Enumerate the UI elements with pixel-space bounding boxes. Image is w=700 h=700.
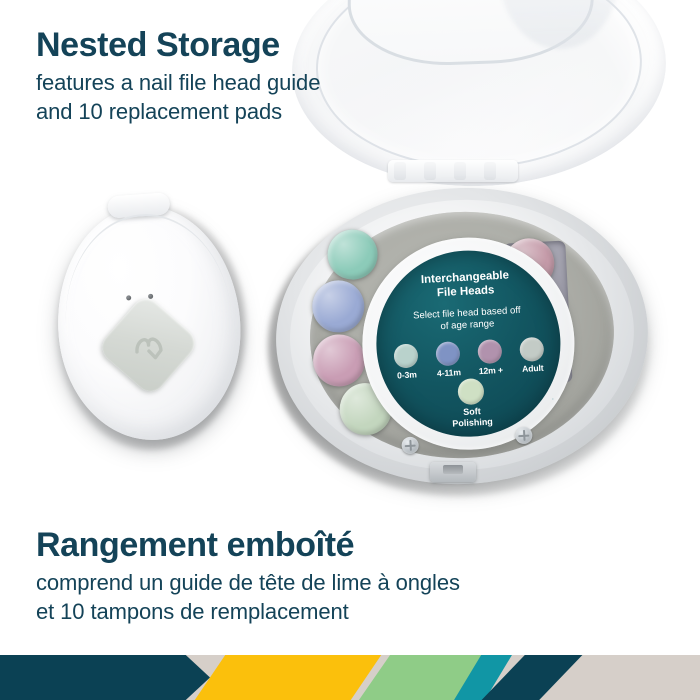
swatch-dot-adult [519, 337, 544, 362]
swatch-dot-soft-polishing [457, 378, 484, 405]
subline-english-2: and 10 replacement pads [36, 98, 320, 127]
footer-stripe-navy-left [0, 655, 210, 700]
swatch-dot-4-11m [435, 341, 460, 366]
guide-subtitle: Select file head based off of age range [381, 303, 554, 336]
age-range-swatches: 0-3m 4-11m 12m + [386, 336, 552, 381]
soft-polishing-swatch: Soft Polishing [378, 374, 564, 433]
subline-french-1: comprend un guide de tête de lime à ongl… [36, 569, 460, 598]
footer-stripe-yellow [188, 655, 388, 700]
headline-french: Rangement emboîté [36, 528, 460, 563]
product-marketing-slide: Interchangeable File Heads Select file h… [0, 0, 700, 700]
age-swatch-adult: Adult [512, 336, 552, 374]
age-swatch-12m-plus: 12m + [470, 339, 510, 377]
guide-title: Interchangeable File Heads [373, 266, 558, 305]
subline-english-1: features a nail file head guide [36, 69, 320, 98]
age-swatch-0-3m: 0-3m [386, 343, 426, 381]
swatch-dot-12m-plus [477, 339, 502, 364]
headline-english: Nested Storage [36, 28, 320, 63]
case-hinge [388, 160, 518, 182]
file-head-guide-disc: Interchangeable File Heads Select file h… [372, 246, 565, 441]
replacement-pad-left-3 [312, 333, 367, 388]
case-latch [430, 462, 476, 482]
swatch-label-soft-polishing: Soft Polishing [380, 402, 565, 433]
copy-block-french: Rangement emboîté comprend un guide de t… [36, 528, 460, 627]
swatch-dot-0-3m [393, 343, 418, 368]
replacement-pad-left-2 [311, 279, 366, 334]
guide-disc-ring: Interchangeable File Heads Select file h… [357, 232, 580, 455]
swatch-label-12m-plus: 12m + [472, 365, 510, 377]
footer-chevron-band [0, 655, 700, 700]
tray-screw-right [515, 426, 533, 444]
age-swatch-4-11m: 4-11m [428, 341, 468, 379]
brand-heart-logo-icon [127, 324, 170, 367]
subline-french-2: et 10 tampons de remplacement [36, 598, 460, 627]
tray-screw-left [401, 436, 419, 454]
copy-block-english: Nested Storage features a nail file head… [36, 28, 320, 127]
swatch-label-0-3m: 0-3m [388, 369, 426, 381]
swatch-label-4-11m: 4-11m [430, 367, 468, 379]
swatch-label-adult: Adult [514, 362, 552, 374]
